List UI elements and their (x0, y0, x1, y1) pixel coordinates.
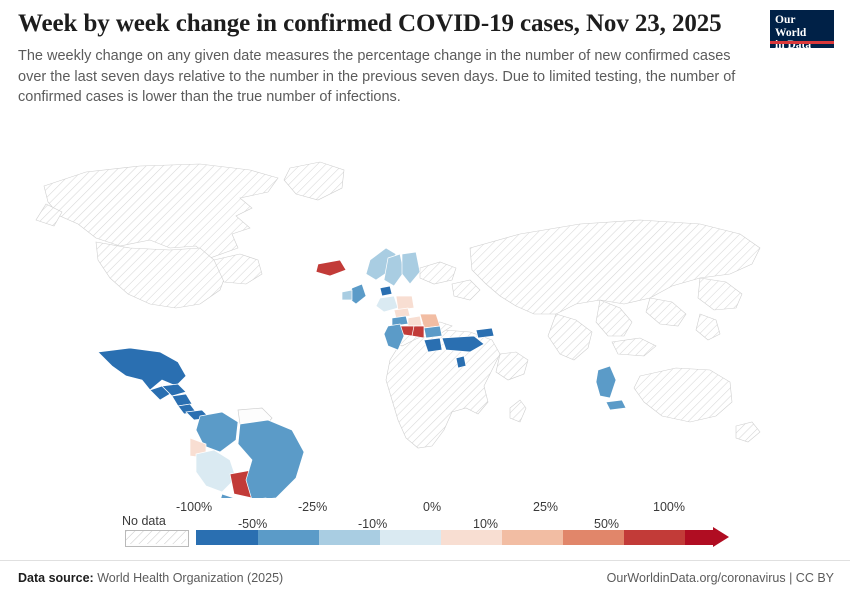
legend-tick-6: 25% (533, 500, 558, 514)
country-georgia (476, 328, 494, 338)
legend-bin-4[interactable] (441, 530, 502, 545)
legend-bin-1[interactable] (258, 530, 319, 545)
owid-map-chart: Week by week change in confirmed COVID-1… (0, 0, 850, 600)
legend-tick-0: -100% (176, 500, 212, 514)
data-source: Data source: World Health Organization (… (18, 571, 283, 585)
country-israel (456, 356, 466, 368)
footer-credit[interactable]: OurWorldinData.org/coronavirus | CC BY (607, 571, 834, 585)
legend-arrow-icon (713, 527, 729, 547)
region-europe-nodata (420, 262, 480, 300)
country-thailand (596, 366, 616, 398)
owid-logo[interactable]: Our World in Data (770, 10, 834, 48)
legend-bin-3[interactable] (380, 530, 441, 545)
legend-tick-8: 100% (653, 500, 685, 514)
region-oceania-nodata (612, 338, 760, 442)
legend-tick-7: 50% (594, 517, 619, 531)
country-mexico (98, 348, 186, 390)
legend-bin-7[interactable] (624, 530, 685, 545)
chart-footer: Data source: World Health Organization (… (0, 560, 850, 601)
data-source-value: World Health Organization (2025) (97, 571, 283, 585)
legend-bin-0[interactable] (196, 530, 258, 545)
legend-tick-2: -25% (298, 500, 327, 514)
country-iceland (316, 260, 346, 276)
legend-no-data-label: No data (122, 514, 166, 528)
region-asia-nodata (470, 220, 760, 360)
legend-tick-1: -50% (238, 517, 267, 531)
country-poland (396, 296, 414, 310)
legend-bin-8[interactable] (685, 530, 713, 545)
logo-accent-bar (770, 41, 834, 44)
country-bulgaria (424, 326, 442, 338)
country-hungary (408, 316, 422, 326)
legend-tick-3: -10% (358, 517, 387, 531)
page-title: Week by week change in confirmed COVID-1… (18, 10, 722, 38)
logo-line-1: Our World (775, 14, 829, 39)
legend-bin-2[interactable] (319, 530, 380, 545)
legend-bin-5[interactable] (502, 530, 563, 545)
legend-bin-6[interactable] (563, 530, 624, 545)
region-north-america-nodata (36, 162, 344, 308)
data-source-label: Data source: (18, 571, 94, 585)
legend-no-data-swatch[interactable] (125, 530, 189, 547)
page-subtitle: The weekly change on any given date meas… (18, 46, 746, 108)
country-malaysia (606, 400, 626, 410)
world-map[interactable] (0, 108, 850, 498)
map-legend: -100% -50% -25% -10% 0% 10% 25% 50% 100%… (0, 498, 850, 556)
legend-tick-5: 10% (473, 517, 498, 531)
country-peru (196, 450, 236, 492)
country-brazil (238, 420, 304, 498)
country-denmark (380, 286, 392, 296)
country-ireland (342, 290, 352, 300)
legend-tick-4: 0% (423, 500, 441, 514)
country-finland (402, 252, 420, 284)
